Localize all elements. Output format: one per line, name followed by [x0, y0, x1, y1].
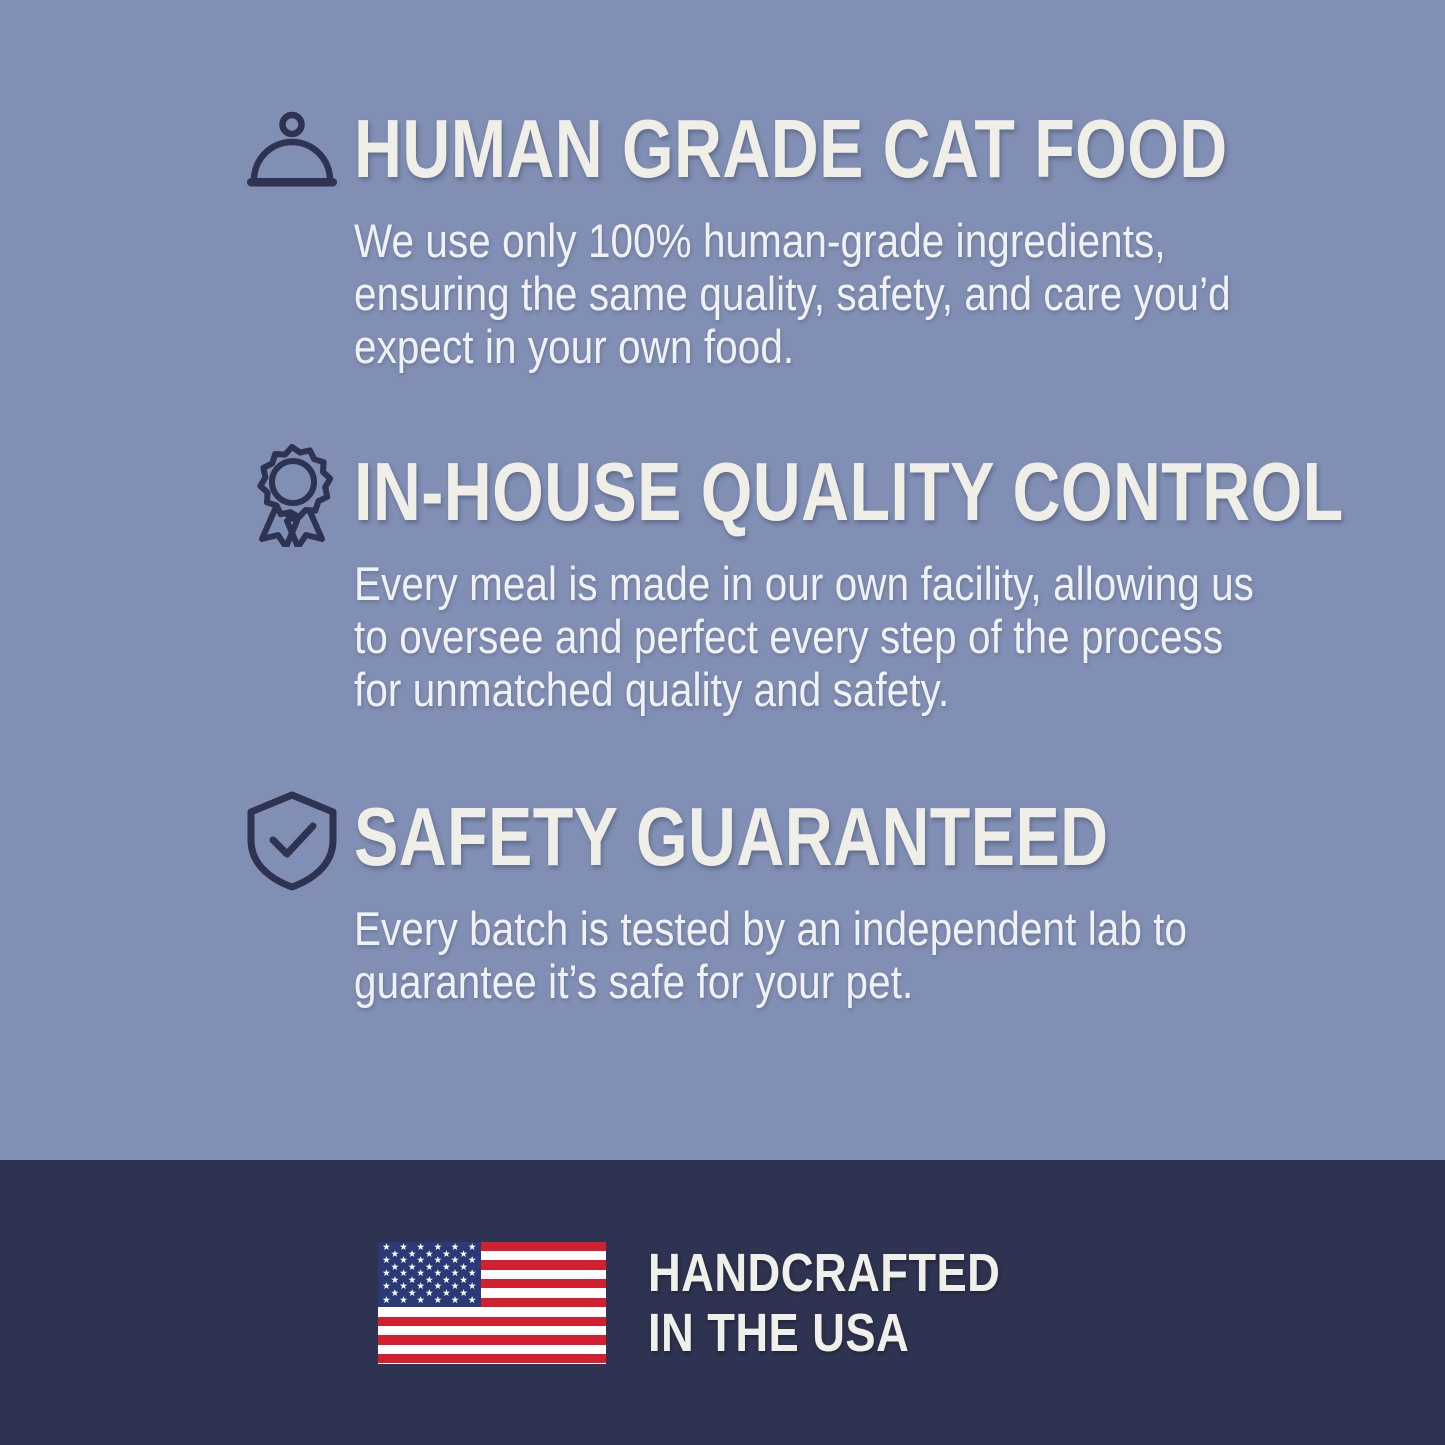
feature-header: SAFETY GUARANTEED [236, 788, 1236, 892]
flag-stripe [378, 1317, 606, 1326]
usa-flag-icon: ★★★★★★★★★★★★★★★★★★★★★★★★★★★★★★★★★★★★★★★★… [378, 1242, 606, 1364]
flag-star: ★ [467, 1256, 477, 1266]
feature-description: We use only 100% human-grade ingredients… [354, 214, 1352, 373]
shield-check-icon [236, 788, 354, 892]
feature-item-safety-guaranteed: SAFETY GUARANTEED Every batch is tested … [236, 788, 1236, 1008]
banner-text-line: HANDCRAFTED [648, 1243, 1000, 1303]
feature-title: IN-HOUSE QUALITY CONTROL [354, 445, 1344, 539]
cloche-icon [236, 100, 354, 204]
feature-description-line: for unmatched quality and safety. [354, 663, 1352, 716]
banner-content: ★★★★★★★★★★★★★★★★★★★★★★★★★★★★★★★★★★★★★★★★… [378, 1242, 1067, 1364]
flag-star: ★ [467, 1243, 477, 1253]
banner-text: HANDCRAFTED IN THE USA [648, 1243, 1000, 1363]
feature-description-line: to oversee and perfect every step of the… [354, 610, 1352, 663]
flag-star: ★ [433, 1296, 443, 1306]
feature-description-line: guarantee it’s safe for your pet. [354, 955, 1352, 1008]
feature-header: IN-HOUSE QUALITY CONTROL [236, 443, 1236, 547]
feature-header: HUMAN GRADE CAT FOOD [236, 100, 1236, 204]
feature-item-in-house-quality-control: IN-HOUSE QUALITY CONTROL Every meal is m… [236, 443, 1236, 716]
flag-star: ★ [416, 1296, 426, 1306]
flag-star: ★ [381, 1296, 391, 1306]
promo-graphic: HUMAN GRADE CAT FOOD We use only 100% hu… [0, 0, 1445, 1445]
feature-description-line: We use only 100% human-grade ingredients… [354, 214, 1352, 267]
feature-description-line: Every batch is tested by an independent … [354, 902, 1352, 955]
flag-star: ★ [399, 1296, 409, 1306]
feature-description-line: ensuring the same quality, safety, and c… [354, 267, 1352, 320]
feature-title: SAFETY GUARANTEED [354, 790, 1108, 884]
flag-star: ★ [467, 1282, 477, 1292]
feature-description-line: expect in your own food. [354, 320, 1352, 373]
flag-star: ★ [467, 1296, 477, 1306]
flag-stripe [378, 1354, 606, 1363]
flag-canton: ★★★★★★★★★★★★★★★★★★★★★★★★★★★★★★★★★★★★★★★★… [378, 1242, 481, 1308]
feature-description: Every meal is made in our own facility, … [354, 557, 1352, 716]
feature-item-human-grade-cat-food: HUMAN GRADE CAT FOOD We use only 100% hu… [236, 100, 1236, 373]
flag-star: ★ [467, 1269, 477, 1279]
feature-description: Every batch is tested by an independent … [354, 902, 1352, 1008]
flag-stripe [378, 1335, 606, 1344]
feature-title: HUMAN GRADE CAT FOOD [354, 102, 1228, 196]
flag-star: ★ [450, 1296, 460, 1306]
banner-text-line: IN THE USA [648, 1303, 1000, 1363]
feature-list: HUMAN GRADE CAT FOOD We use only 100% hu… [0, 0, 1445, 1160]
feature-description-line: Every meal is made in our own facility, … [354, 557, 1352, 610]
handcrafted-banner: ★★★★★★★★★★★★★★★★★★★★★★★★★★★★★★★★★★★★★★★★… [0, 1160, 1445, 1445]
award-ribbon-icon [236, 443, 354, 547]
